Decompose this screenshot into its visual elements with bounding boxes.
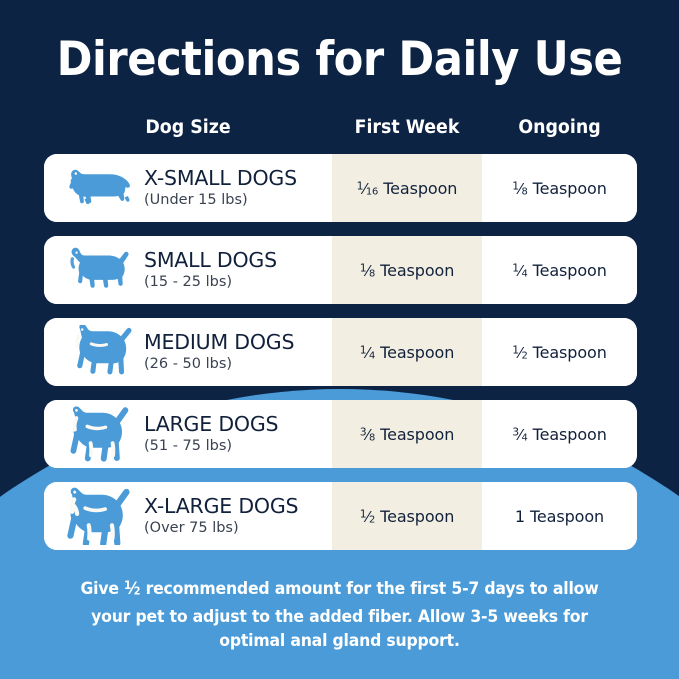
dose-ongoing: 1⁄4 Teaspoon bbox=[512, 261, 607, 280]
column-header-ongoing: Ongoing bbox=[487, 115, 633, 143]
dog-weight-range: (Over 75 lbs) bbox=[144, 519, 298, 538]
footer-line-2: your pet to adjust to the added fiber. A… bbox=[17, 605, 662, 629]
dog-size-text: X-SMALL DOGS (Under 15 lbs) bbox=[136, 167, 297, 210]
footer-line-1-after: recommended amount for the first 5-7 day… bbox=[140, 579, 598, 598]
cell-ongoing: 3⁄4 Teaspoon bbox=[482, 400, 637, 468]
footer-frac-numerator: 1 bbox=[124, 579, 131, 592]
column-header-first-week: First Week bbox=[337, 115, 478, 143]
dose-unit: Teaspoon bbox=[380, 507, 454, 526]
frac-denominator: 8 bbox=[369, 268, 375, 279]
dose-first-week: 3⁄8 Teaspoon bbox=[360, 425, 455, 444]
dog-weight-range: (15 - 25 lbs) bbox=[144, 273, 277, 292]
dose-unit: Teaspoon bbox=[380, 425, 454, 444]
frac-numerator: 1 bbox=[512, 179, 519, 192]
dog-size-name: SMALL DOGS bbox=[144, 249, 277, 272]
frac-denominator: 8 bbox=[369, 432, 375, 443]
dog-weight-range: (51 - 75 lbs) bbox=[144, 437, 278, 456]
frac-denominator: 2 bbox=[369, 514, 375, 525]
dose-unit: Teaspoon bbox=[533, 425, 607, 444]
dog-size-name: X-LARGE DOGS bbox=[144, 495, 298, 518]
dosage-table: X-SMALL DOGS (Under 15 lbs) 1⁄16 Teaspoo… bbox=[44, 154, 637, 564]
table-row: X-SMALL DOGS (Under 15 lbs) 1⁄16 Teaspoo… bbox=[44, 154, 637, 222]
page-title: Directions for Daily Use bbox=[27, 32, 652, 87]
basset-hound-icon bbox=[60, 244, 136, 296]
cell-dog-size: X-SMALL DOGS (Under 15 lbs) bbox=[44, 154, 332, 222]
dose-first-week: 1⁄4 Teaspoon bbox=[360, 343, 455, 362]
frac-denominator: 4 bbox=[369, 350, 375, 361]
dose-ongoing: 1⁄8 Teaspoon bbox=[512, 179, 607, 198]
dog-weight-range: (26 - 50 lbs) bbox=[144, 355, 294, 374]
cell-ongoing: 1 Teaspoon bbox=[482, 482, 637, 550]
dose-unit: Teaspoon bbox=[380, 261, 454, 280]
frac-denominator: 16 bbox=[366, 186, 378, 197]
table-row: MEDIUM DOGS (26 - 50 lbs) 1⁄4 Teaspoon 1… bbox=[44, 318, 637, 386]
infographic-canvas: Directions for Daily Use Dog Size First … bbox=[0, 0, 679, 679]
cell-first-week: 3⁄8 Teaspoon bbox=[332, 400, 482, 468]
dog-size-name: MEDIUM DOGS bbox=[144, 331, 294, 354]
footer-frac-denominator: 2 bbox=[134, 587, 141, 598]
dose-unit: Teaspoon bbox=[533, 343, 607, 362]
table-row: SMALL DOGS (15 - 25 lbs) 1⁄8 Teaspoon 1⁄… bbox=[44, 236, 637, 304]
dose-ongoing: 3⁄4 Teaspoon bbox=[512, 425, 607, 444]
dose-unit: Teaspoon bbox=[380, 343, 454, 362]
beagle-icon bbox=[60, 326, 136, 378]
dog-size-text: X-LARGE DOGS (Over 75 lbs) bbox=[136, 495, 298, 538]
frac-numerator: 3 bbox=[360, 425, 367, 438]
cell-dog-size: X-LARGE DOGS (Over 75 lbs) bbox=[44, 482, 332, 550]
frac-numerator: 1 bbox=[512, 343, 519, 356]
frac-numerator: 1 bbox=[360, 343, 367, 356]
cell-first-week: 1⁄2 Teaspoon bbox=[332, 482, 482, 550]
dachshund-icon bbox=[60, 162, 136, 214]
cell-ongoing: 1⁄2 Teaspoon bbox=[482, 318, 637, 386]
frac-denominator: 8 bbox=[521, 186, 527, 197]
bloodhound-icon bbox=[60, 490, 136, 542]
dog-size-text: LARGE DOGS (51 - 75 lbs) bbox=[136, 413, 278, 456]
dose-first-week: 1⁄2 Teaspoon bbox=[360, 507, 455, 526]
dog-size-text: SMALL DOGS (15 - 25 lbs) bbox=[136, 249, 277, 292]
dose-unit: Teaspoon bbox=[533, 179, 607, 198]
cell-first-week: 1⁄8 Teaspoon bbox=[332, 236, 482, 304]
table-row: LARGE DOGS (51 - 75 lbs) 3⁄8 Teaspoon 3⁄… bbox=[44, 400, 637, 468]
cell-ongoing: 1⁄4 Teaspoon bbox=[482, 236, 637, 304]
cell-ongoing: 1⁄8 Teaspoon bbox=[482, 154, 637, 222]
dog-size-name: X-SMALL DOGS bbox=[144, 167, 297, 190]
cell-first-week: 1⁄16 Teaspoon bbox=[332, 154, 482, 222]
dose-first-week: 1⁄16 Teaspoon bbox=[357, 179, 458, 198]
dose-ongoing: 1 Teaspoon bbox=[515, 507, 604, 526]
dog-size-name: LARGE DOGS bbox=[144, 413, 278, 436]
cell-first-week: 1⁄4 Teaspoon bbox=[332, 318, 482, 386]
frac-numerator: 1 bbox=[512, 261, 519, 274]
frac-numerator: 1 bbox=[360, 507, 367, 520]
frac-numerator: 3 bbox=[512, 425, 519, 438]
dose-ongoing: 1⁄2 Teaspoon bbox=[512, 343, 607, 362]
cell-dog-size: MEDIUM DOGS (26 - 50 lbs) bbox=[44, 318, 332, 386]
pointer-icon bbox=[60, 408, 136, 460]
cell-dog-size: SMALL DOGS (15 - 25 lbs) bbox=[44, 236, 332, 304]
dog-weight-range: (Under 15 lbs) bbox=[144, 191, 297, 210]
dose-unit: Teaspoon bbox=[533, 261, 607, 280]
dog-size-text: MEDIUM DOGS (26 - 50 lbs) bbox=[136, 331, 294, 374]
footer-note: Give 1⁄2 recommended amount for the firs… bbox=[0, 574, 679, 653]
footer-line-1-before: Give bbox=[80, 579, 124, 598]
cell-dog-size: LARGE DOGS (51 - 75 lbs) bbox=[44, 400, 332, 468]
frac-numerator: 1 bbox=[360, 261, 367, 274]
dose-first-week: 1⁄8 Teaspoon bbox=[360, 261, 455, 280]
dose-unit: Teaspoon bbox=[383, 179, 457, 198]
footer-line-1: Give 1⁄2 recommended amount for the firs… bbox=[17, 574, 662, 605]
frac-denominator: 4 bbox=[521, 432, 527, 443]
footer-line-3: optimal anal gland support. bbox=[17, 629, 662, 653]
frac-denominator: 4 bbox=[521, 268, 527, 279]
column-header-row: Dog Size First Week Ongoing bbox=[44, 115, 637, 143]
frac-denominator: 2 bbox=[521, 350, 527, 361]
table-row: X-LARGE DOGS (Over 75 lbs) 1⁄2 Teaspoon … bbox=[44, 482, 637, 550]
column-header-dog-size: Dog Size bbox=[53, 115, 324, 143]
